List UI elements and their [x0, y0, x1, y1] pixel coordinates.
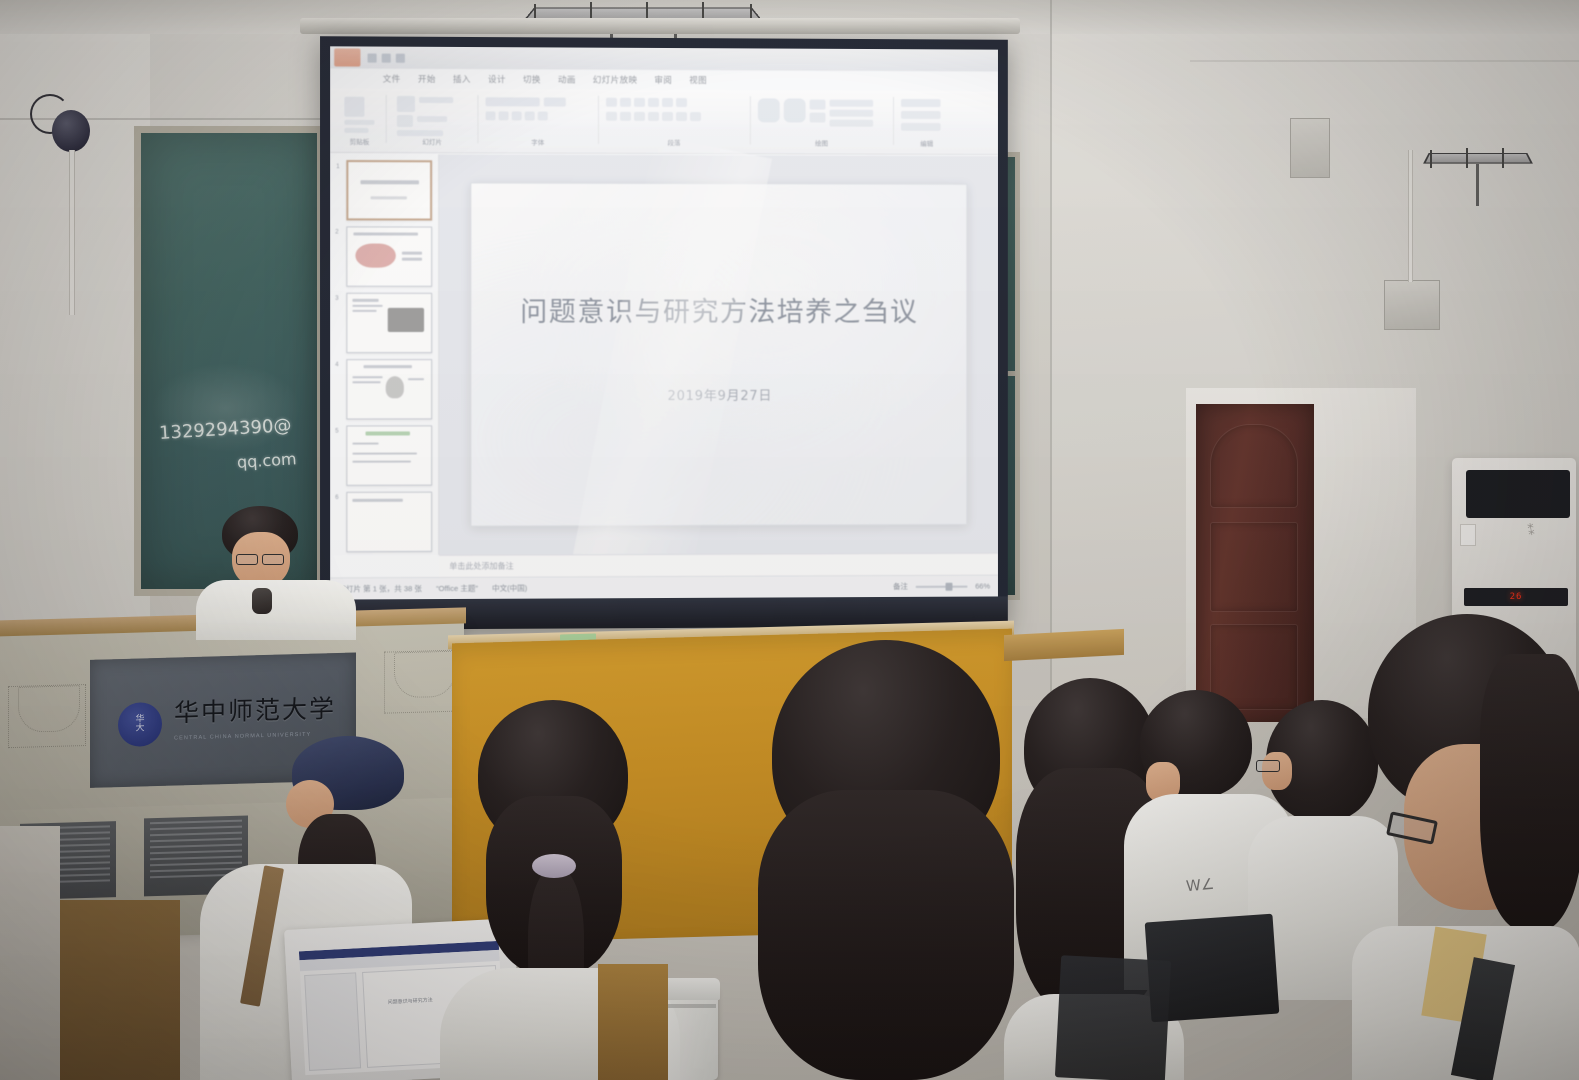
status-bar: 幻灯片 第 1 张，共 38 张 “Office 主题” 中文(中国) 备注 6…	[330, 575, 998, 600]
ac-vent-icon	[1466, 470, 1570, 518]
wall-junction-box	[1384, 280, 1440, 330]
left-wall-column	[0, 0, 150, 700]
save-icon[interactable]	[368, 53, 377, 62]
desk-center-wood	[598, 964, 668, 1080]
thumbnail-number: 1	[336, 164, 339, 170]
ribbon[interactable]: 剪贴板 幻灯片	[330, 89, 998, 155]
microphone-icon	[252, 588, 272, 614]
university-emblem-icon: 华大	[118, 702, 162, 747]
ribbon-group-drawing[interactable]: 绘图	[756, 94, 887, 148]
ribbon-group-clipboard[interactable]: 剪贴板	[336, 93, 382, 147]
thumbnail-number: 2	[335, 229, 338, 235]
student-center-front	[722, 640, 1042, 1080]
powerpoint-window: 文件 开始 插入 设计 切换 动画 幻灯片放映 审阅 视图	[330, 46, 998, 599]
wall-trim-line-right	[1190, 60, 1579, 62]
slide-thumbnail[interactable]: 4	[346, 359, 432, 419]
wall-left-lower	[0, 826, 60, 1080]
tab-design[interactable]: 设计	[488, 73, 506, 85]
slide-date[interactable]: 2019年9月27日	[471, 385, 966, 405]
conduit-left	[69, 150, 75, 315]
ac-scribble-mark: ⁑	[1527, 524, 1536, 540]
status-language: 中文(中国)	[492, 583, 527, 594]
ribbon-tabs[interactable]: 文件 开始 插入 设计 切换 动画 幻灯片放映 审阅 视图	[330, 68, 998, 91]
tab-insert[interactable]: 插入	[453, 73, 471, 85]
ribbon-label-drawing: 绘图	[756, 137, 887, 147]
wall-sensor-box	[1290, 118, 1330, 178]
thumbnail-number: 3	[335, 296, 338, 302]
slide-thumbnail[interactable]: 1	[346, 160, 432, 221]
undo-icon[interactable]	[382, 53, 391, 62]
slide-title[interactable]: 问题意识与研究方法培养之刍议	[471, 290, 966, 329]
thumbnail-number: 5	[335, 429, 338, 435]
presenter-glasses-right	[262, 554, 284, 565]
hair-tie	[532, 854, 576, 878]
ribbon-group-paragraph[interactable]: 段落	[604, 94, 744, 149]
quick-access-toolbar[interactable]	[368, 53, 405, 62]
tab-animations[interactable]: 动画	[558, 74, 576, 86]
presenter-shirt	[196, 580, 356, 640]
ribbon-group-editing[interactable]: 编辑	[899, 95, 954, 149]
notes-placeholder[interactable]: 单击此处添加备注	[439, 553, 998, 577]
wall-speaker-icon	[52, 110, 90, 152]
tab-slideshow[interactable]: 幻灯片放映	[593, 74, 638, 86]
powerpoint-logo-icon	[334, 48, 360, 66]
conduit-right	[1408, 150, 1413, 282]
ribbon-label-paragraph: 段落	[604, 137, 744, 147]
tablet-right-2[interactable]	[1055, 955, 1171, 1080]
tab-view[interactable]: 视图	[689, 74, 707, 86]
slide-thumbnail-pane[interactable]: 1 2 3	[330, 154, 439, 555]
tee-graphic: W∠	[1185, 875, 1215, 895]
ribbon-group-font[interactable]: 字体	[483, 93, 591, 148]
presenter	[196, 506, 356, 636]
status-theme: “Office 主题”	[436, 583, 478, 594]
slide-thumbnail[interactable]: 2	[346, 226, 432, 286]
ppt-titlebar	[330, 46, 998, 71]
slide-thumbnail[interactable]: 3	[346, 293, 432, 353]
zoom-slider[interactable]	[916, 585, 967, 587]
tab-file[interactable]: 文件	[383, 73, 401, 85]
presenter-glasses-left	[236, 554, 258, 565]
ribbon-label-slides: 幻灯片	[393, 136, 472, 146]
current-slide[interactable]: 问题意识与研究方法培养之刍议 2019年9月27日	[470, 182, 967, 526]
lecture-hall-photo: 1329294390@ qq.com 文件	[0, 0, 1579, 1080]
ribbon-group-slides[interactable]: 幻灯片	[393, 93, 472, 148]
ac-label-sticker	[1460, 524, 1476, 546]
slide-editing-area[interactable]: 问题意识与研究方法培养之刍议 2019年9月27日	[439, 154, 998, 555]
university-name: 华中师范大学	[174, 689, 346, 730]
slide-background	[471, 183, 966, 525]
status-zoom-level[interactable]: 66%	[975, 582, 990, 591]
tab-home[interactable]: 开始	[418, 73, 436, 85]
ribbon-label-clipboard: 剪贴板	[336, 136, 382, 146]
slide-thumbnail[interactable]: 6	[346, 492, 432, 553]
podium-etching-left	[8, 684, 86, 748]
chalk-email-line2: qq.com	[236, 449, 297, 472]
wall-bracket-icon	[1420, 148, 1570, 228]
ribbon-label-editing: 编辑	[899, 138, 954, 148]
ribbon-label-font: 字体	[483, 136, 591, 146]
slide-thumbnail[interactable]: 5	[346, 425, 432, 485]
redo-icon[interactable]	[396, 53, 405, 62]
tab-review[interactable]: 审阅	[654, 74, 672, 86]
student-far-right	[1352, 600, 1579, 1080]
wall-corner-seam	[1050, 0, 1052, 700]
door[interactable]	[1196, 404, 1314, 722]
student7-hair-side	[1480, 654, 1579, 930]
tab-transitions[interactable]: 切换	[523, 73, 541, 85]
projection-screen: 文件 开始 插入 设计 切换 动画 幻灯片放映 审阅 视图	[320, 36, 1008, 630]
screen-roller	[300, 18, 1020, 34]
thumbnail-number: 6	[335, 495, 338, 501]
thumbnail-number: 4	[335, 362, 338, 368]
student6-glasses	[1256, 760, 1280, 772]
student3-hair-long	[758, 790, 1014, 1080]
status-view-label[interactable]: 备注	[893, 581, 908, 592]
